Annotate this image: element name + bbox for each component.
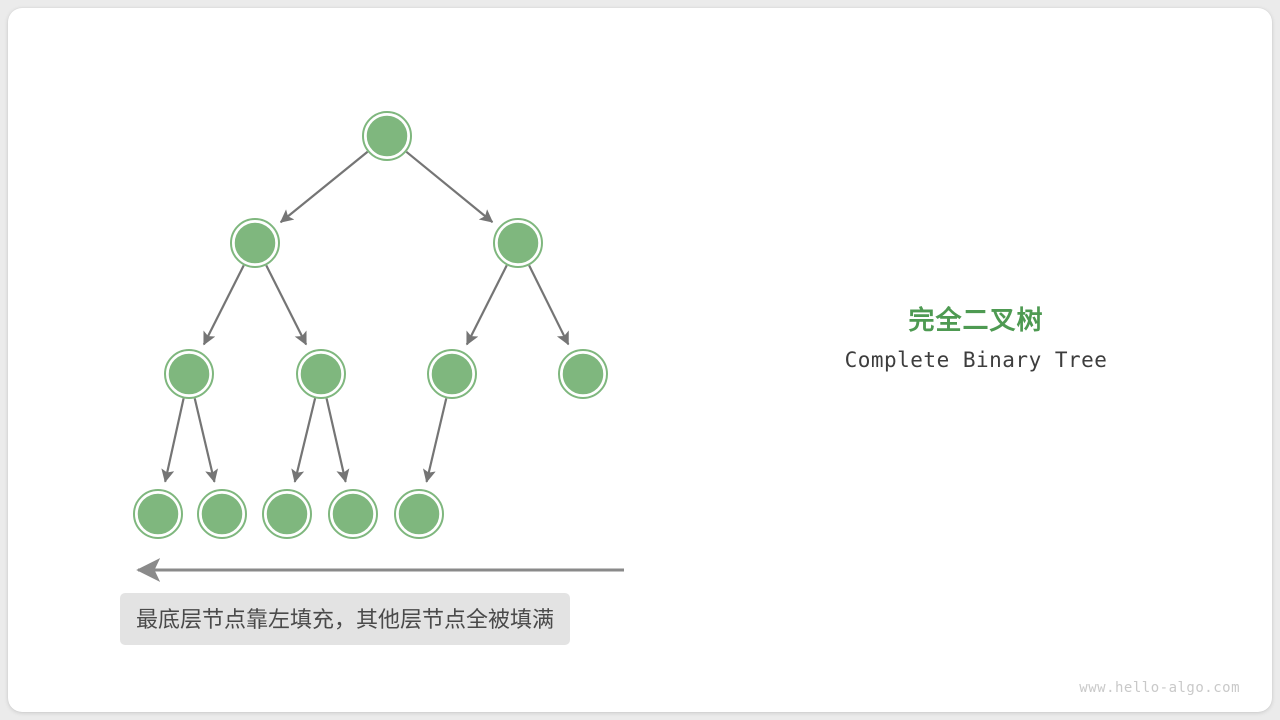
edge-layer <box>165 152 568 482</box>
watermark: www.hello-algo.com <box>1079 680 1240 696</box>
tree-edge <box>427 398 447 482</box>
title-english: Complete Binary Tree <box>776 348 1176 372</box>
tree-node[interactable] <box>297 350 345 398</box>
node-layer <box>134 112 607 538</box>
tree-edge <box>204 265 244 344</box>
tree-edge <box>327 398 346 481</box>
tree-edge <box>467 265 507 344</box>
node-circle <box>201 493 243 535</box>
tree-node[interactable] <box>494 219 542 267</box>
tree-node[interactable] <box>428 350 476 398</box>
node-circle <box>168 353 210 395</box>
tree-node[interactable] <box>395 490 443 538</box>
tree-edge <box>195 398 215 482</box>
node-circle <box>234 222 276 264</box>
tree-edge <box>406 152 492 222</box>
node-circle <box>562 353 604 395</box>
node-circle <box>398 493 440 535</box>
node-circle <box>266 493 308 535</box>
diagram-card: 完全二叉树 Complete Binary Tree 最底层节点靠左填充，其他层… <box>8 8 1272 712</box>
node-circle <box>137 493 179 535</box>
node-circle <box>332 493 374 535</box>
tree-edge <box>529 265 568 344</box>
node-circle <box>431 353 473 395</box>
tree-node[interactable] <box>165 350 213 398</box>
node-circle <box>300 353 342 395</box>
tree-edge <box>165 398 183 481</box>
tree-edge <box>281 152 368 222</box>
caption-note: 最底层节点靠左填充，其他层节点全被填满 <box>120 593 570 645</box>
node-circle <box>366 115 408 157</box>
tree-node[interactable] <box>134 490 182 538</box>
tree-node[interactable] <box>363 112 411 160</box>
tree-node[interactable] <box>231 219 279 267</box>
tree-node[interactable] <box>329 490 377 538</box>
tree-node[interactable] <box>559 350 607 398</box>
tree-node[interactable] <box>198 490 246 538</box>
title-chinese: 完全二叉树 <box>776 300 1176 337</box>
tree-node[interactable] <box>263 490 311 538</box>
node-circle <box>497 222 539 264</box>
tree-edge <box>295 398 315 482</box>
tree-edge <box>266 265 306 344</box>
